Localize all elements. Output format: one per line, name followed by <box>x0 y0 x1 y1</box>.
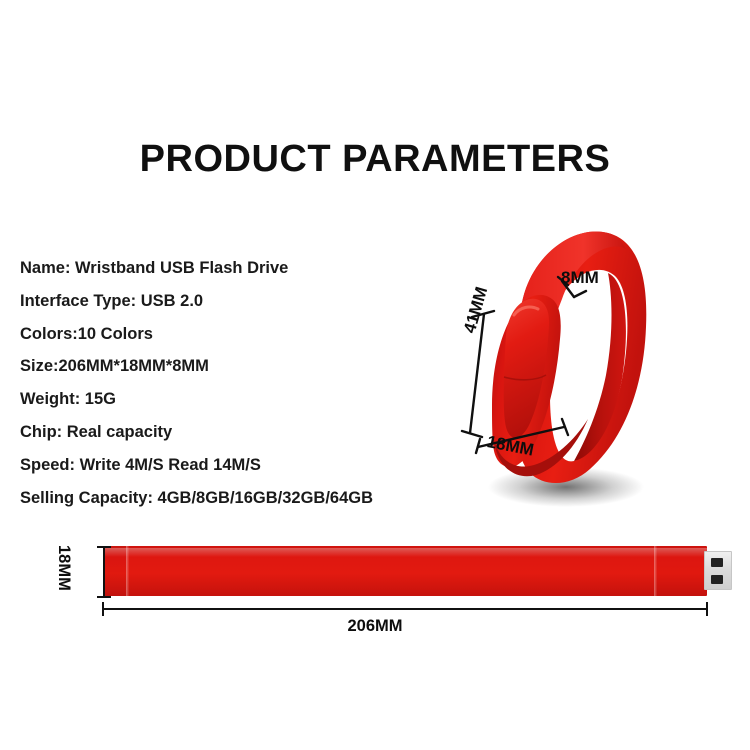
coil-dimension-label-thickness: 8MM <box>561 268 599 288</box>
usb-contact-upper <box>711 558 723 567</box>
spec-line-size: Size:206MM*18MM*8MM <box>20 350 450 383</box>
spec-line-speed: Speed: Write 4M/S Read 14M/S <box>20 449 450 482</box>
spec-line-interface-type: Interface Type: USB 2.0 <box>20 285 450 318</box>
strip-seam-left <box>126 546 129 596</box>
usb-connector <box>704 551 732 590</box>
product-parameters-page: PRODUCT PARAMETERS Name: Wristband USB F… <box>0 0 750 750</box>
strip-segment-right <box>655 546 707 596</box>
strip-dimension-label-length: 206MM <box>0 617 750 636</box>
strip-dimension-width <box>95 540 113 602</box>
coiled-wristband-image <box>458 215 658 515</box>
strip-dimension-label-width: 18MM <box>54 545 73 591</box>
spec-line-colors: Colors:10 Colors <box>20 318 450 351</box>
strip-segment-middle <box>127 546 655 596</box>
spec-line-chip: Chip: Real capacity <box>20 416 450 449</box>
flat-wristband-image <box>103 546 707 596</box>
spec-line-name: Name: Wristband USB Flash Drive <box>20 252 450 285</box>
spec-line-selling-capacity: Selling Capacity: 4GB/8GB/16GB/32GB/64GB <box>20 482 450 515</box>
usb-contact-lower <box>711 575 723 584</box>
specification-list: Name: Wristband USB Flash Drive Interfac… <box>20 252 450 514</box>
page-title: PRODUCT PARAMETERS <box>0 138 750 181</box>
spec-line-weight: Weight: 15G <box>20 383 450 416</box>
strip-seam-right <box>654 546 657 596</box>
